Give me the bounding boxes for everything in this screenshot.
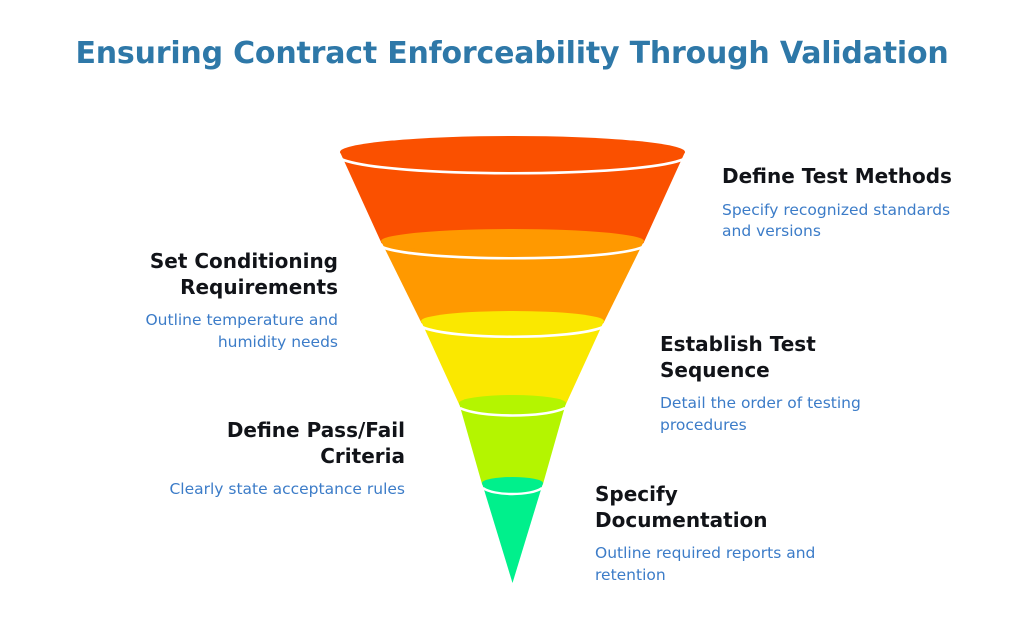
- funnel-segment-1-top-cap: [340, 136, 685, 168]
- funnel-callout-5: Specify Documentation Outline required r…: [595, 482, 855, 586]
- funnel-callout-2-description: Outline temperature and humidity needs: [78, 310, 338, 353]
- funnel-callout-3: Establish Test Sequence Detail the order…: [660, 332, 920, 436]
- funnel-callout-1-description: Specify recognized standards and version…: [722, 200, 982, 243]
- funnel-segment-2-top-cap: [381, 229, 644, 253]
- funnel-callout-5-description: Outline required reports and retention: [595, 543, 855, 586]
- funnel-segment-5[interactable]: [482, 477, 543, 583]
- funnel-callout-1: Define Test Methods Specify recognized s…: [722, 164, 982, 242]
- funnel-callout-2-title: Set Conditioning Requirements: [78, 249, 338, 300]
- funnel-segment-4-top-cap: [459, 395, 566, 411]
- funnel-callout-4-title: Define Pass/Fail Criteria: [145, 418, 405, 469]
- funnel-callout-4: Define Pass/Fail Criteria Clearly state …: [145, 418, 405, 501]
- funnel-callout-4-description: Clearly state acceptance rules: [145, 479, 405, 500]
- funnel-callout-3-description: Detail the order of testing procedures: [660, 393, 920, 436]
- funnel-segment-5-top-cap: [482, 477, 543, 489]
- funnel-callout-1-title: Define Test Methods: [722, 164, 982, 190]
- funnel-callout-3-title: Establish Test Sequence: [660, 332, 920, 383]
- funnel-callout-2: Set Conditioning Requirements Outline te…: [78, 249, 338, 353]
- funnel-segment-5-body: [482, 483, 543, 583]
- funnel-segment-4[interactable]: [459, 395, 566, 490]
- funnel-segment-3-top-cap: [421, 311, 604, 331]
- funnel-callout-5-title: Specify Documentation: [595, 482, 855, 533]
